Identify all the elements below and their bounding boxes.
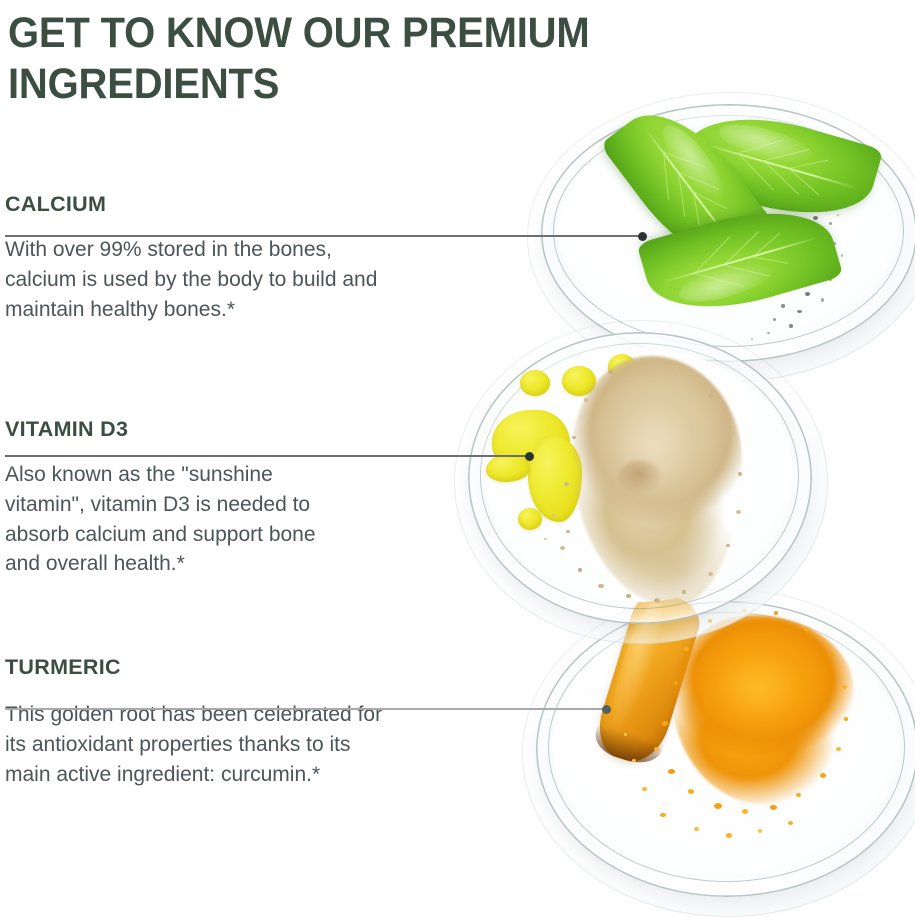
section-body-calcium: With over 99% stored in the bones, calci… bbox=[5, 235, 525, 324]
section-title-turmeric: TURMERIC bbox=[5, 655, 535, 680]
section-title-vitamin-d3: VITAMIN D3 bbox=[5, 417, 455, 442]
ingredient-section-calcium: CALCIUM With over 99% stored in the bone… bbox=[5, 192, 525, 324]
section-body-vitamin-d3: Also known as the "sunshine vitamin", vi… bbox=[5, 460, 455, 579]
section-title-calcium: CALCIUM bbox=[5, 192, 525, 217]
section-body-turmeric: This golden root has been celebrated for… bbox=[5, 700, 535, 789]
oil-droplet-d bbox=[518, 508, 542, 530]
oil-droplet-a bbox=[520, 370, 550, 396]
petri-dish-turmeric bbox=[536, 601, 915, 897]
ingredient-section-vitamin-d3: VITAMIN D3 Also known as the "sunshine v… bbox=[5, 417, 455, 579]
petri-dish-vitamin-d3 bbox=[468, 332, 812, 624]
ingredients-infographic: GET TO KNOW OUR PREMIUM INGREDIENTS CALC… bbox=[0, 0, 915, 882]
ingredient-section-turmeric: TURMERIC This golden root has been celeb… bbox=[5, 655, 535, 789]
page-title: GET TO KNOW OUR PREMIUM INGREDIENTS bbox=[8, 8, 808, 109]
petri-dish-basil bbox=[541, 104, 915, 362]
